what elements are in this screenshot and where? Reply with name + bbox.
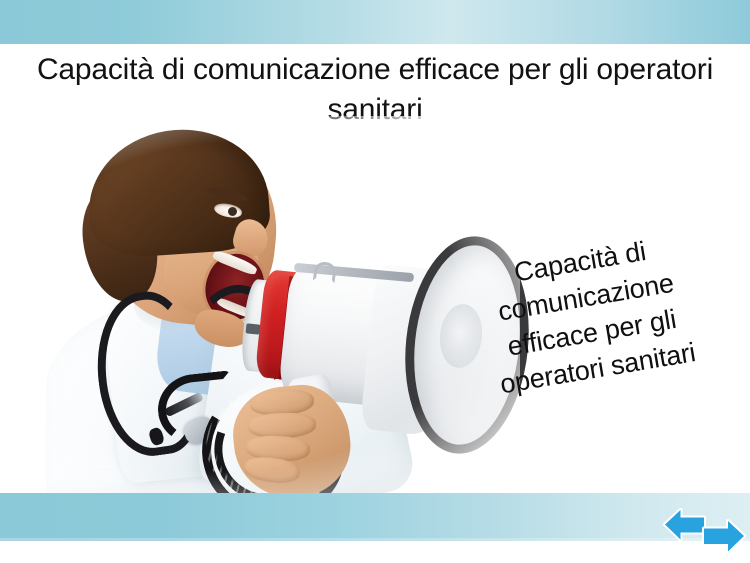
slide-canvas: Capacità di comunicazione efficace per g… xyxy=(0,0,750,563)
pupil xyxy=(228,207,237,216)
bottom-decorative-band xyxy=(0,493,750,541)
page-title: Capacità di comunicazione efficace per g… xyxy=(22,50,728,130)
next-slide-arrow-icon[interactable] xyxy=(700,518,748,556)
megaphone-strap-hook-rear xyxy=(313,261,338,284)
slide-navigation xyxy=(662,508,748,558)
top-decorative-band xyxy=(0,0,750,44)
doctor-megaphone-photo xyxy=(38,128,508,500)
